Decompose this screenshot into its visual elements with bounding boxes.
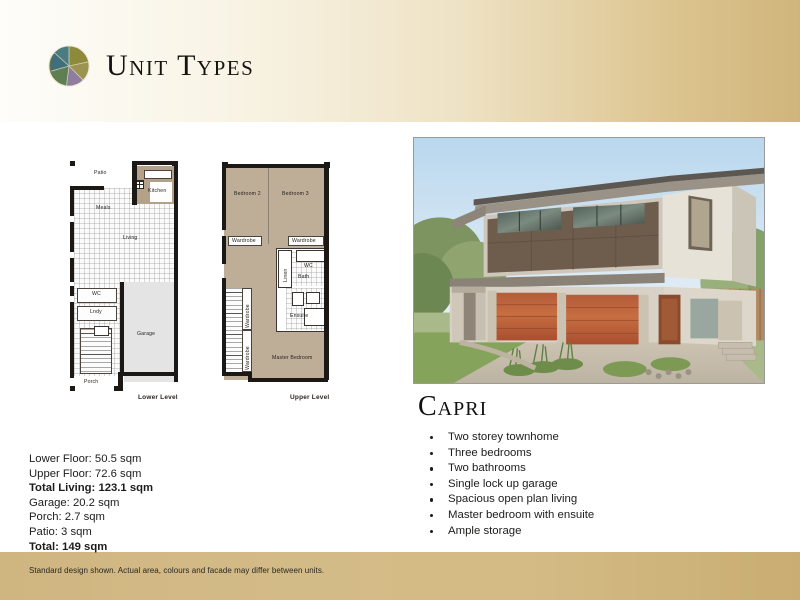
ensuite-shower: [306, 292, 320, 304]
list-item: Single lock up garage: [424, 477, 754, 493]
list-item: Ample storage: [424, 524, 754, 540]
wall-seg: [132, 161, 178, 165]
room-label-bedroom-2: Bedroom 2: [234, 192, 261, 197]
wall-seg: [70, 258, 74, 282]
upper-stairs: [224, 288, 242, 372]
disclaimer-text: Standard design shown. Actual area, colo…: [29, 566, 324, 575]
spec-upper-floor: Upper Floor: 72.6 sqm: [29, 467, 269, 482]
page-title: Unit Types: [106, 49, 254, 83]
wall-seg: [70, 286, 74, 296]
wall-seg: [70, 222, 74, 252]
poster-page: Unit Types: [0, 0, 800, 600]
room-label-wardrobe-bed2: Wardrobe: [232, 239, 256, 244]
stair-landing: [94, 326, 109, 336]
spec-lower-floor: Lower Floor: 50.5 sqm: [29, 452, 269, 467]
pie-circle-logo-icon: [48, 45, 90, 87]
wall-seg: [222, 168, 226, 230]
room-label-living: Living: [123, 236, 137, 241]
wall-seg: [70, 386, 75, 391]
room-label-linen: Linen: [284, 269, 289, 282]
list-item: Two storey townhome: [424, 430, 754, 446]
house-render: [413, 137, 765, 384]
wall-seg: [324, 328, 329, 380]
list-item: Master bedroom with ensuite: [424, 508, 754, 524]
wall-seg: [70, 302, 74, 374]
wall-seg: [324, 164, 329, 332]
cooktop-burner: [140, 182, 143, 185]
spec-patio: Patio: 3 sqm: [29, 525, 269, 540]
kitchen-sink: [144, 170, 172, 179]
feature-list: Two storey townhome Three bedrooms Two b…: [424, 430, 754, 539]
brand: Unit Types: [48, 45, 254, 87]
ensuite-basin: [292, 292, 304, 306]
room-label-ensuite: Ensuite: [290, 314, 308, 319]
upper-level-floorplan: Bedroom 2 Bedroom 3 Wardrobe Wardrobe WC…: [216, 160, 342, 392]
wall-seg: [120, 282, 124, 374]
footer-band: [0, 552, 800, 600]
wall-seg: [222, 164, 328, 168]
room-label-wardrobe-master-b: Wardrobe: [246, 346, 251, 370]
wall-seg: [118, 372, 178, 376]
room-label-bedroom-3: Bedroom 3: [282, 192, 309, 197]
spec-porch: Porch: 2.7 sqm: [29, 510, 269, 525]
spec-total: Total: 149 sqm: [29, 540, 269, 555]
cooktop-burner: [140, 185, 143, 188]
room-label-kitchen: Kitchen: [148, 189, 166, 194]
room-label-wardrobe-bed3: Wardrobe: [292, 239, 316, 244]
spec-total-living: Total Living: 123.1 sqm: [29, 481, 269, 496]
lower-level-floorplan: Patio Kitchen Meals Living WC Lndy Garag…: [64, 160, 184, 392]
list-item: Two bathrooms: [424, 461, 754, 477]
room-label-porch: Porch: [84, 380, 98, 385]
wall-seg: [70, 161, 75, 166]
product-name: Capri: [418, 391, 487, 423]
wall-seg: [174, 282, 178, 382]
wall-seg: [222, 236, 226, 264]
wall-seg: [70, 186, 74, 216]
house-render-illustration: [414, 138, 764, 383]
room-label-bath: Bath: [298, 275, 309, 280]
room-label-patio: Patio: [94, 171, 107, 176]
wall-seg: [222, 278, 226, 376]
room-label-garage: Garage: [137, 332, 155, 337]
room-label-wc: WC: [304, 264, 313, 269]
spec-garage: Garage: 20.2 sqm: [29, 496, 269, 511]
upper-level-caption: Upper Level: [290, 394, 329, 401]
lower-level-caption: Lower Level: [138, 394, 178, 401]
room-label-wc: WC: [92, 292, 101, 297]
wall-seg: [70, 186, 104, 190]
room-label-meals: Meals: [96, 206, 111, 211]
list-item: Three bedrooms: [424, 446, 754, 462]
bathtub: [296, 250, 326, 262]
list-item: Spacious open plan living: [424, 492, 754, 508]
wall-seg: [132, 161, 137, 205]
room-label-laundry: Lndy: [90, 310, 102, 315]
area-spec-list: Lower Floor: 50.5 sqm Upper Floor: 72.6 …: [29, 452, 269, 554]
wall-seg: [70, 372, 74, 378]
wall-seg: [248, 378, 328, 382]
wall-seg: [174, 161, 178, 289]
room-label-wardrobe-master-a: Wardrobe: [246, 304, 251, 328]
bedroom-partition: [268, 168, 269, 244]
room-label-master-bedroom: Master Bedroom: [272, 356, 312, 361]
